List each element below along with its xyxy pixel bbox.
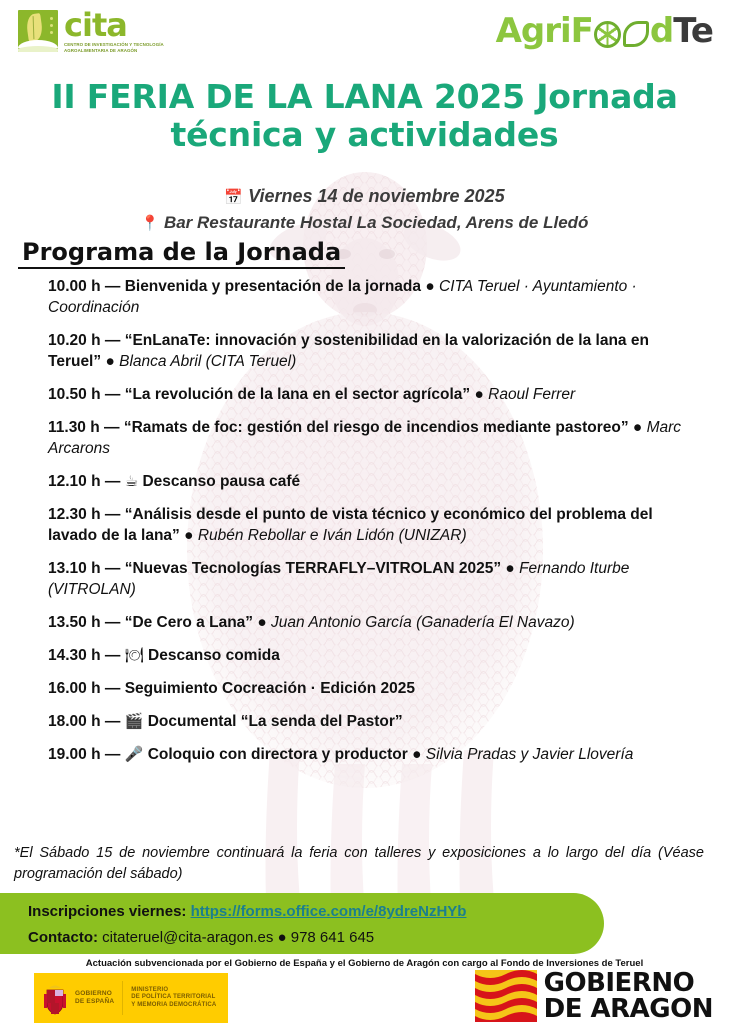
logo-divider — [122, 981, 123, 1015]
ministry-text: MINISTERIO DE POLÍTICA TERRITORIAL Y MEM… — [131, 987, 216, 1010]
program-item-title: Descanso comida — [148, 647, 280, 664]
program-item: 16.00 h — Seguimiento Cocreación · Edici… — [48, 678, 696, 699]
cita-logo: cita CENTRO DE INVESTIGACIÓN Y TECNOLOGÍ… — [18, 10, 182, 53]
program-item: 10.20 h — “EnLanaTe: innovación y sosten… — [48, 330, 696, 372]
program-item-title: “Ramats de foc: gestión del riesgo de in… — [124, 419, 629, 436]
contact-phone[interactable]: 978 641 645 — [291, 929, 374, 946]
program-item-speaker: Silvia Pradas y Javier Llovería — [426, 746, 634, 763]
program-item-title: Documental “La senda del Pastor” — [148, 713, 403, 730]
program-item-dash: — — [105, 560, 121, 577]
program-item-time: 10.20 h — [48, 332, 101, 349]
poster-title: II FERIA DE LA LANA 2025 Jornada técnica… — [0, 78, 729, 154]
program-item-speaker: Blanca Abril (CITA Teruel) — [119, 353, 296, 370]
program-item-time: 12.30 h — [48, 506, 101, 523]
program-item-dash: — — [105, 614, 121, 631]
program-item-time: 10.00 h — [48, 278, 101, 295]
event-date-text: Viernes 14 de noviembre 2025 — [248, 186, 504, 206]
program-item: 14.30 h — 🍽 Descanso comida — [48, 645, 696, 666]
spain-coat-of-arms-icon — [42, 981, 68, 1015]
program-item-dash: — — [105, 680, 121, 697]
contact-bullet: ● — [278, 929, 287, 946]
gobierno-aragon-logo: GOBIERNO DE ARAGON — [475, 970, 713, 1022]
program-item-dash: — — [105, 473, 121, 490]
aragon-flag-icon — [475, 970, 537, 1022]
contact-label: Contacto: — [28, 929, 98, 946]
program-item-dash: — — [105, 332, 121, 349]
location-pin-icon: 📍 — [141, 214, 160, 232]
meal-icon: 🍽 — [125, 646, 144, 664]
poster-header: cita CENTRO DE INVESTIGACIÓN Y TECNOLOGÍ… — [0, 0, 729, 72]
microphone-icon: 🎤 — [125, 745, 144, 763]
program-item-time: 19.00 h — [48, 746, 101, 763]
cita-wordmark: cita — [64, 10, 182, 40]
program-item-time: 16.00 h — [48, 680, 101, 697]
spain-gov-text: GOBIERNO DE ESPAÑA — [75, 990, 114, 1006]
program-item-title: Seguimiento Cocreación · Edición 2025 — [125, 680, 415, 697]
program-item-bullet: ● — [184, 527, 193, 544]
event-place-text: Bar Restaurante Hostal La Sociedad, Aren… — [164, 213, 589, 232]
agrifoodte-d: d — [650, 14, 673, 48]
program-item-dash: — — [105, 713, 121, 730]
event-place: 📍 Bar Restaurante Hostal La Sociedad, Ar… — [0, 213, 729, 233]
program-item-bullet: ● — [505, 560, 514, 577]
program-item: 13.10 h — “Nuevas Tecnologías TERRAFLY–V… — [48, 558, 696, 600]
signup-link[interactable]: https://forms.office.com/e/8ydreNzHYb — [191, 903, 467, 920]
program-item: 12.10 h — ☕ Descanso pausa café — [48, 471, 696, 492]
program-item: 18.00 h — 🎬 Documental “La senda del Pas… — [48, 711, 696, 732]
program-item: 10.00 h — Bienvenida y presentación de l… — [48, 276, 696, 318]
title-line-2: técnica y actividades — [0, 116, 729, 154]
aragon-gov-text: GOBIERNO DE ARAGON — [544, 970, 713, 1022]
program-item-title: “De Cero a Lana” — [125, 614, 253, 631]
program-item-time: 12.10 h — [48, 473, 101, 490]
event-date: 📅 Viernes 14 de noviembre 2025 — [0, 186, 729, 207]
program-item: 12.30 h — “Análisis desde el punto de vi… — [48, 504, 696, 546]
program-item-time: 18.00 h — [48, 713, 101, 730]
food-leaf-icon — [623, 21, 649, 47]
program-item: 10.50 h — “La revolución de la lana en e… — [48, 384, 696, 405]
program-item-speaker: Raoul Ferrer — [488, 386, 575, 403]
cita-subtitle: CENTRO DE INVESTIGACIÓN Y TECNOLOGÍA AGR… — [64, 42, 182, 53]
poster-root: cita CENTRO DE INVESTIGACIÓN Y TECNOLOGÍ… — [0, 0, 729, 1030]
program-item-title: Descanso pausa café — [142, 473, 300, 490]
program-item-dash: — — [105, 746, 121, 763]
gobierno-espana-logo: GOBIERNO DE ESPAÑA MINISTERIO DE POLÍTIC… — [34, 973, 228, 1023]
program-item: 19.00 h — 🎤 Coloquio con directora y pro… — [48, 744, 696, 765]
program-item-speaker: Juan Antonio García (Ganadería El Navazo… — [271, 614, 575, 631]
program-item-dash: — — [104, 419, 120, 436]
program-item-time: 13.50 h — [48, 614, 101, 631]
program-heading: Programa de la Jornada — [18, 238, 345, 269]
program-item-dash: — — [105, 647, 121, 664]
program-item-time: 13.10 h — [48, 560, 101, 577]
program-item-bullet: ● — [412, 746, 421, 763]
program-item-title: “Nuevas Tecnologías TERRAFLY–VITROLAN 20… — [125, 560, 501, 577]
cita-emblem-icon — [18, 10, 58, 52]
agrifoodte-te: Te — [673, 14, 713, 48]
contact-line: Contacto: citateruel@cita-aragon.es ● 97… — [28, 929, 374, 946]
program-item-dash: — — [105, 506, 121, 523]
program-item-bullet: ● — [105, 353, 114, 370]
program-item-title: Coloquio con directora y productor — [148, 746, 408, 763]
program-item-bullet: ● — [474, 386, 483, 403]
title-line-1: II FERIA DE LA LANA 2025 Jornada — [51, 77, 677, 116]
agrifoodte-f: F — [571, 14, 593, 48]
coffee-icon: ☕ — [125, 472, 138, 490]
program-item-time: 10.50 h — [48, 386, 101, 403]
contact-email[interactable]: citateruel@cita-aragon.es — [102, 929, 273, 946]
clapperboard-icon: 🎬 — [125, 712, 144, 730]
program-list: 10.00 h — Bienvenida y presentación de l… — [48, 276, 696, 777]
program-item-time: 14.30 h — [48, 647, 101, 664]
contact-band: Inscripciones viernes: https://forms.off… — [0, 893, 604, 954]
program-item-bullet: ● — [257, 614, 266, 631]
calendar-icon: 📅 — [224, 188, 243, 206]
program-item-time: 11.30 h — [48, 419, 100, 436]
food-wheel-icon — [594, 21, 621, 48]
program-item-title: Bienvenida y presentación de la jornada — [125, 278, 421, 295]
program-item-dash: — — [105, 386, 121, 403]
program-item-speaker: Rubén Rebollar e Iván Lidón (UNIZAR) — [198, 527, 467, 544]
program-item-dash: — — [105, 278, 121, 295]
program-item: 11.30 h — “Ramats de foc: gestión del ri… — [48, 417, 696, 459]
program-item: 13.50 h — “De Cero a Lana” ● Juan Antoni… — [48, 612, 696, 633]
saturday-note: *El Sábado 15 de noviembre continuará la… — [14, 843, 704, 885]
program-item-title: “La revolución de la lana en el sector a… — [125, 386, 470, 403]
signup-label: Inscripciones viernes: — [28, 903, 186, 920]
agrifoodte-agri: Agri — [496, 14, 571, 48]
program-item-bullet: ● — [425, 278, 434, 295]
signup-line: Inscripciones viernes: https://forms.off… — [28, 903, 466, 920]
program-item-bullet: ● — [633, 419, 642, 436]
agrifoodte-logo: AgriFdTe — [496, 14, 713, 48]
